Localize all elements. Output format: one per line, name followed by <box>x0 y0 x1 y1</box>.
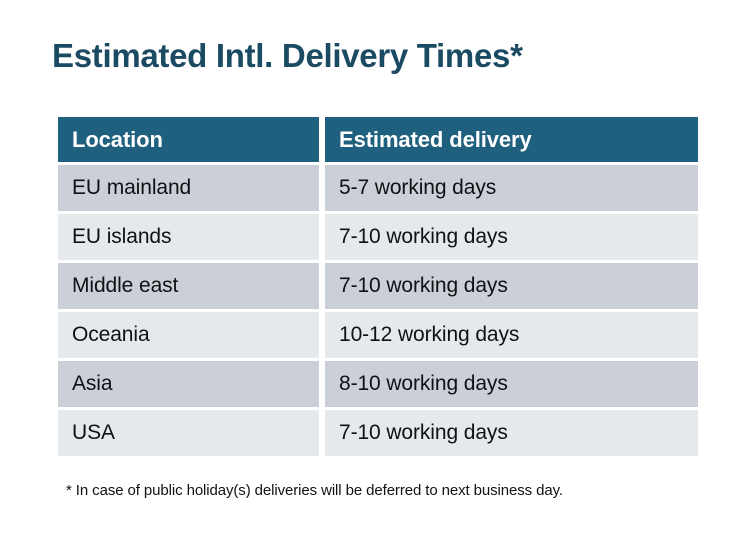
cell-location: Oceania <box>58 312 319 358</box>
table-header-row: Location Estimated delivery <box>58 117 698 162</box>
delivery-times-page: Estimated Intl. Delivery Times* Location… <box>0 0 745 536</box>
table-row: EU mainland 5-7 working days <box>58 165 698 211</box>
cell-delivery: 7-10 working days <box>325 263 698 309</box>
footnote-text: * In case of public holiday(s) deliverie… <box>66 481 563 501</box>
table-header: Location Estimated delivery <box>58 117 698 162</box>
cell-delivery: 10-12 working days <box>325 312 698 358</box>
table-row: Oceania 10-12 working days <box>58 312 698 358</box>
table-row: Middle east 7-10 working days <box>58 263 698 309</box>
column-header-estimated-delivery: Estimated delivery <box>325 117 698 162</box>
delivery-times-table: Location Estimated delivery EU mainland … <box>52 114 704 459</box>
cell-location: Asia <box>58 361 319 407</box>
column-header-location: Location <box>58 117 319 162</box>
cell-location: Middle east <box>58 263 319 309</box>
table-row: Asia 8-10 working days <box>58 361 698 407</box>
table-row: EU islands 7-10 working days <box>58 214 698 260</box>
cell-location: USA <box>58 410 319 456</box>
table-body: EU mainland 5-7 working days EU islands … <box>58 165 698 456</box>
cell-location: EU mainland <box>58 165 319 211</box>
cell-delivery: 5-7 working days <box>325 165 698 211</box>
page-title: Estimated Intl. Delivery Times* <box>52 36 523 76</box>
cell-delivery: 7-10 working days <box>325 410 698 456</box>
cell-location: EU islands <box>58 214 319 260</box>
cell-delivery: 7-10 working days <box>325 214 698 260</box>
table-row: USA 7-10 working days <box>58 410 698 456</box>
cell-delivery: 8-10 working days <box>325 361 698 407</box>
